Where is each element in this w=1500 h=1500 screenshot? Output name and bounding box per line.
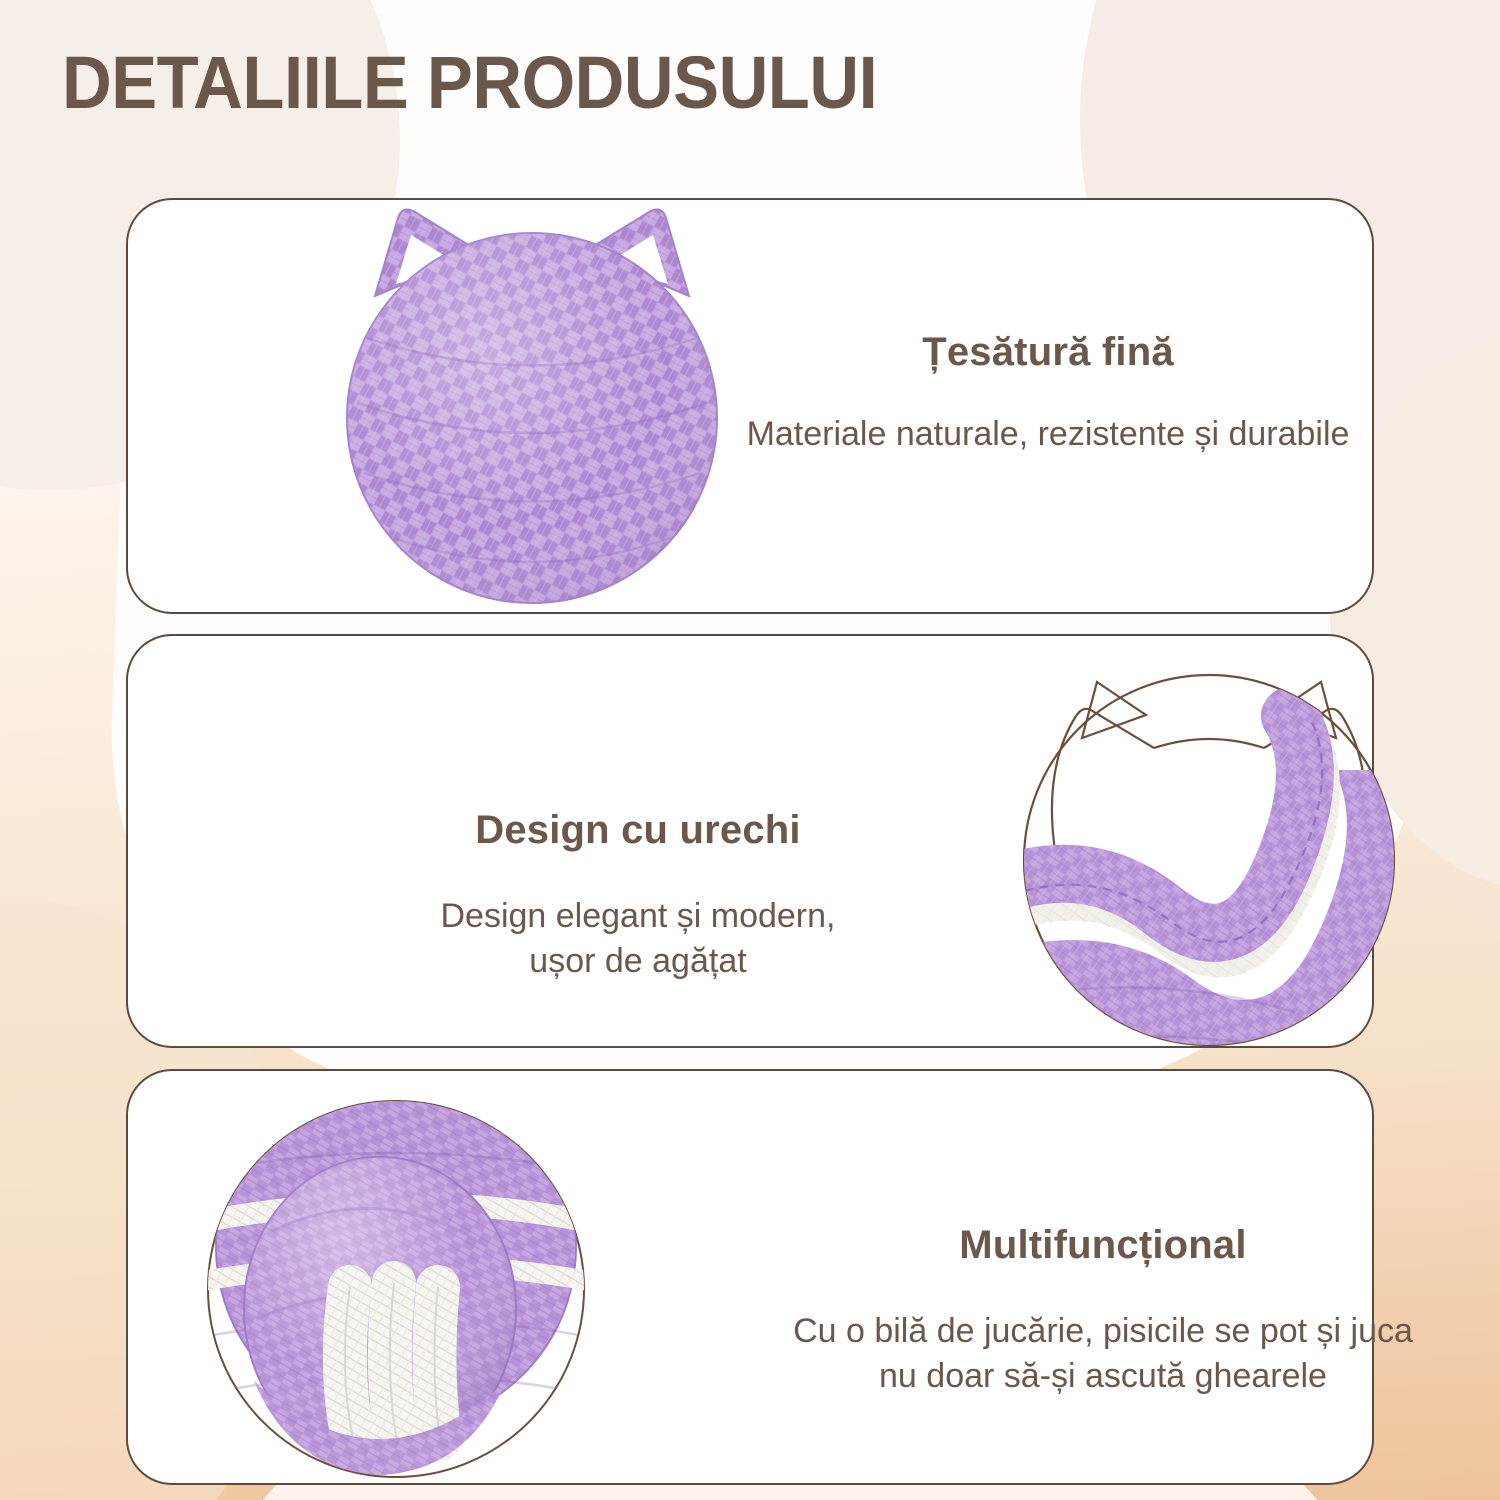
card-3-body-line-1: Cu o bilă de jucărie, pisicile se pot și… xyxy=(718,1309,1488,1354)
card-1-heading: Țesătură fină xyxy=(728,328,1368,376)
card-2-heading: Design cu urechi xyxy=(338,806,938,854)
feature-card-design-cu-urechi: Design cu urechi Design elegant și moder… xyxy=(126,634,1374,1048)
feature-card-multifunctional: Multifuncțional Cu o bilă de jucărie, pi… xyxy=(126,1069,1374,1485)
card-1-body: Materiale naturale, rezistente și durabi… xyxy=(728,412,1368,457)
rope-weave-closeup-image xyxy=(994,620,1424,1050)
rope-knot-ball xyxy=(244,1157,516,1475)
card-2-body-line-1: Design elegant și modern, xyxy=(338,894,938,939)
cat-shaped-woven-rope-mat-image xyxy=(312,178,752,618)
card-3-text-block: Multifuncțional Cu o bilă de jucărie, pi… xyxy=(718,1221,1488,1399)
rope-knot-ball-image xyxy=(168,1051,618,1500)
card-3-heading: Multifuncțional xyxy=(718,1221,1488,1269)
white-rope-strands xyxy=(345,1283,440,1447)
product-details-infographic: DETALIILE PRODUSULUI xyxy=(0,0,1500,1500)
card-2-text-block: Design cu urechi Design elegant și moder… xyxy=(338,806,938,984)
card-3-body-line-2: nu doar să-și ascută ghearele xyxy=(718,1354,1488,1399)
card-2-body-line-2: ușor de agățat xyxy=(338,939,938,984)
page-title: DETALIILE PRODUSULUI xyxy=(62,42,877,124)
feature-card-tesatura-fina: Țesătură fină Materiale naturale, rezist… xyxy=(126,198,1374,614)
card-1-text-block: Țesătură fină Materiale naturale, rezist… xyxy=(728,328,1368,457)
rope-upper-band xyxy=(984,716,1305,933)
